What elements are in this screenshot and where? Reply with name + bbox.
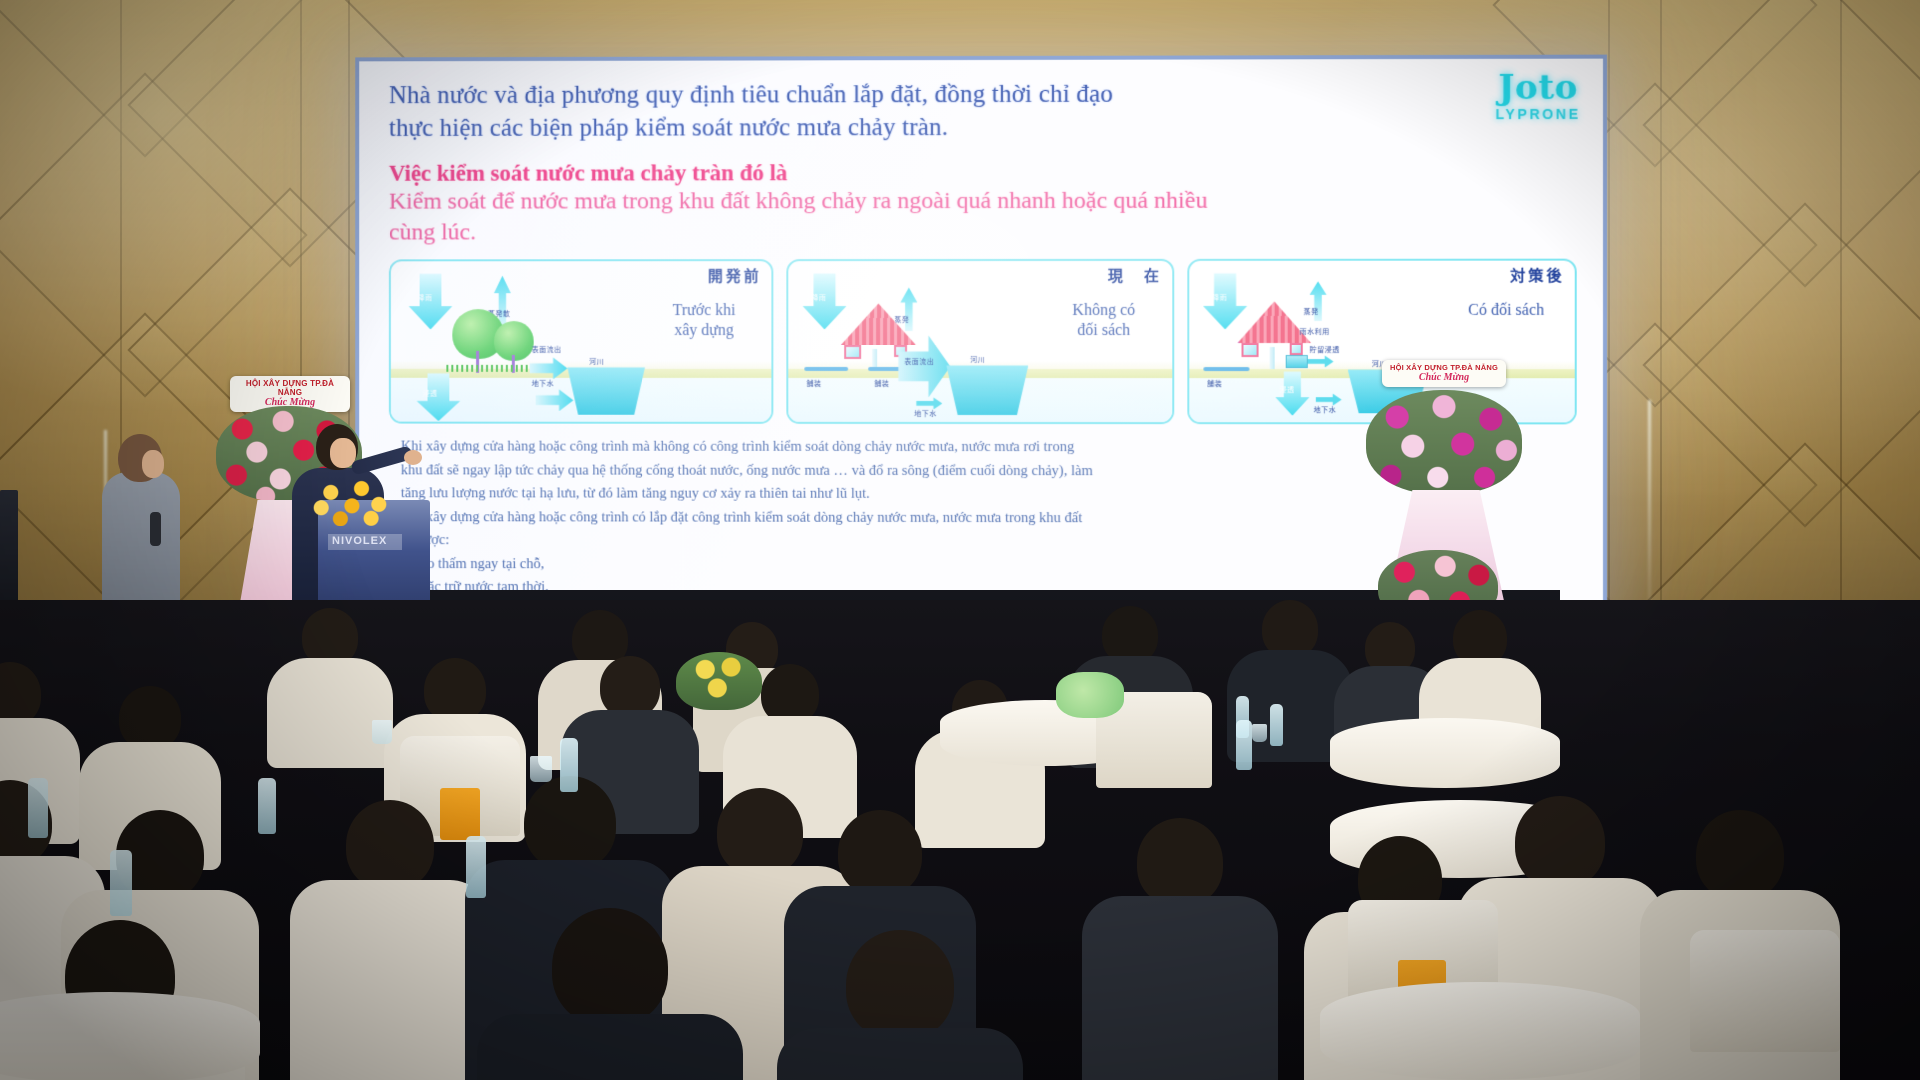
flower-blooms: [1366, 390, 1522, 494]
banner-line-1: HỘI XÂY DỰNG TP.ĐÀ NẴNG: [1388, 363, 1500, 372]
chair-sash: [440, 788, 480, 840]
panel-caption-text: Trước khi xây dựng: [650, 301, 758, 339]
banquet-table: [1320, 982, 1640, 1080]
subheading-line-1: Kiểm soát để nước mưa trong khu đất khôn…: [389, 185, 1577, 217]
downpipe-icon: [1269, 347, 1274, 369]
speaker-hand: [404, 450, 422, 465]
panel-caption: Trước khi xây dựng: [650, 301, 758, 339]
slide-heading: Nhà nước và địa phương quy định tiêu chu…: [389, 77, 1577, 145]
storage-tank-icon: [1285, 355, 1307, 368]
window-icon: [1289, 343, 1302, 355]
banquet-table: [0, 992, 260, 1080]
podium-label: NIVOLEX: [332, 535, 387, 547]
diagram-panel-current: 現 在 Không có đối sách 降雨 蒸発 舗装: [787, 259, 1174, 424]
window-icon: [1241, 343, 1258, 357]
banner-line-2: Chúc Mừng: [1388, 372, 1500, 383]
panel-title: 対策後: [1510, 265, 1564, 286]
audience-area: [0, 600, 1920, 1080]
subheading-line-2: cùng lúc.: [389, 216, 1577, 248]
logo-subtitle: LYPRONE: [1495, 107, 1580, 121]
panel-title: 現 在: [1108, 265, 1162, 286]
table-plant: [676, 652, 762, 710]
panel-caption: Không có đối sách: [1050, 301, 1158, 339]
panel-caption-text: Không có đối sách: [1050, 301, 1158, 339]
flower-stand-banner: HỘI XÂY DỰNG TP.ĐÀ NẴNG Chúc Mừng: [1382, 360, 1506, 387]
slide-subheading: Kiểm soát để nước mưa trong khu đất khôn…: [389, 185, 1577, 248]
downpipe-icon: [872, 349, 877, 369]
podium-bouquet: [302, 478, 398, 526]
heading-line-1: Nhà nước và địa phương quy định tiêu chu…: [389, 77, 1577, 112]
presentation-scene: Joto LYPRONE Nhà nước và địa phương quy …: [0, 0, 1920, 1080]
diagram-panel-before-development: 開発前 Trước khi xây dựng 降雨 蒸発散 表面流: [389, 260, 774, 425]
joto-logo: Joto LYPRONE: [1495, 71, 1580, 121]
logo-wordmark: Joto: [1495, 71, 1580, 105]
river-basin: [946, 365, 1028, 415]
person-face: [142, 450, 164, 478]
microphone-icon: [150, 512, 161, 546]
table-plant: [1056, 672, 1124, 718]
window-icon: [844, 345, 861, 359]
panel-title: 開発前: [708, 266, 762, 287]
panel-caption: Có đối sách: [1452, 301, 1561, 320]
slide-subheading-bold: Việc kiểm soát nước mưa chảy tràn đó là: [389, 159, 1577, 187]
banquet-table: [1330, 718, 1560, 788]
panel-caption-text: Có đối sách: [1452, 301, 1561, 320]
river-basin: [567, 367, 645, 415]
storage-arrow-icon: [1307, 355, 1333, 367]
banner-line-1: HỘI XÂY DỰNG TP.ĐÀ NẴNG: [236, 379, 344, 397]
chair: [1690, 930, 1840, 1052]
heading-line-2: thực hiện các biện pháp kiểm soát nước m…: [389, 110, 1577, 145]
